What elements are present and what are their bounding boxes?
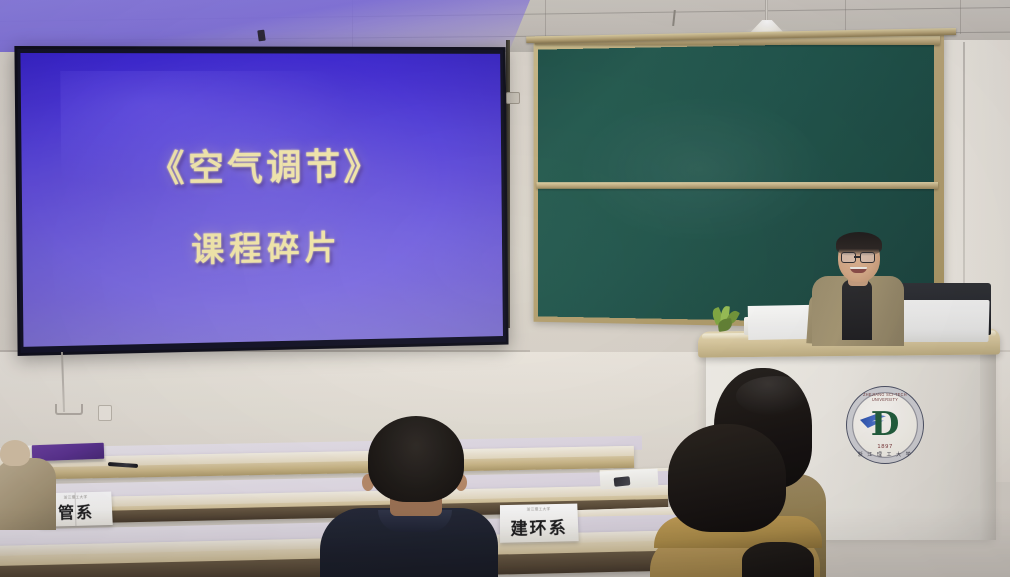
audience-hair-lower bbox=[742, 542, 814, 577]
audience-hair bbox=[668, 424, 786, 532]
logo-chinese-text: 浙 江 理 工 大 学 bbox=[847, 451, 923, 458]
audience-front-center bbox=[320, 416, 498, 577]
ceiling-vent-icon bbox=[257, 30, 265, 42]
screen-hook-icon bbox=[55, 404, 83, 415]
lecture-hall-photo: 《空气调节》 课程碎片 ZHEJIANG SCI-TECH UNIVERSITY… bbox=[0, 0, 1010, 577]
logo-year: 1897 bbox=[847, 444, 923, 450]
podium-right-edge bbox=[980, 352, 996, 540]
hair-highlight bbox=[736, 376, 816, 416]
slide-surface: 《空气调节》 课程碎片 bbox=[20, 53, 503, 347]
power-outlet-icon bbox=[98, 405, 112, 421]
logo-monogram: D bbox=[871, 407, 900, 440]
projector-screen: 《空气调节》 课程碎片 bbox=[14, 46, 508, 356]
university-logo-icon: ZHEJIANG SCI-TECH UNIVERSITY D 1897 浙 江 … bbox=[846, 386, 924, 464]
pendant-lamp-rod bbox=[765, 0, 768, 22]
glasses-icon bbox=[860, 252, 875, 263]
slide-vignette bbox=[20, 53, 503, 347]
chalkboard-mid-rail bbox=[536, 182, 938, 189]
audience-coat bbox=[0, 458, 56, 530]
ceiling-tile-seam bbox=[960, 0, 961, 34]
logo-english-text: ZHEJIANG SCI-TECH UNIVERSITY bbox=[850, 392, 920, 402]
audience-hair bbox=[368, 416, 464, 502]
chalk-haze bbox=[577, 94, 826, 244]
audience-left-edge bbox=[0, 440, 58, 520]
presenter bbox=[812, 232, 908, 342]
name-card-subtext: 浙江理工大学 bbox=[500, 506, 578, 512]
audience-right-front bbox=[650, 424, 820, 577]
name-card-right: 浙江理工大学 建环系 bbox=[500, 504, 579, 543]
desk-plant-icon bbox=[709, 306, 743, 334]
phone-icon bbox=[614, 476, 631, 487]
projector-light-spill bbox=[0, 0, 530, 52]
glasses-bridge bbox=[854, 256, 860, 258]
presenter-inner-shirt bbox=[842, 280, 872, 340]
name-card-text: 建环系 bbox=[500, 513, 579, 539]
audience-head bbox=[0, 440, 30, 466]
wall-fixture-icon bbox=[506, 92, 520, 104]
